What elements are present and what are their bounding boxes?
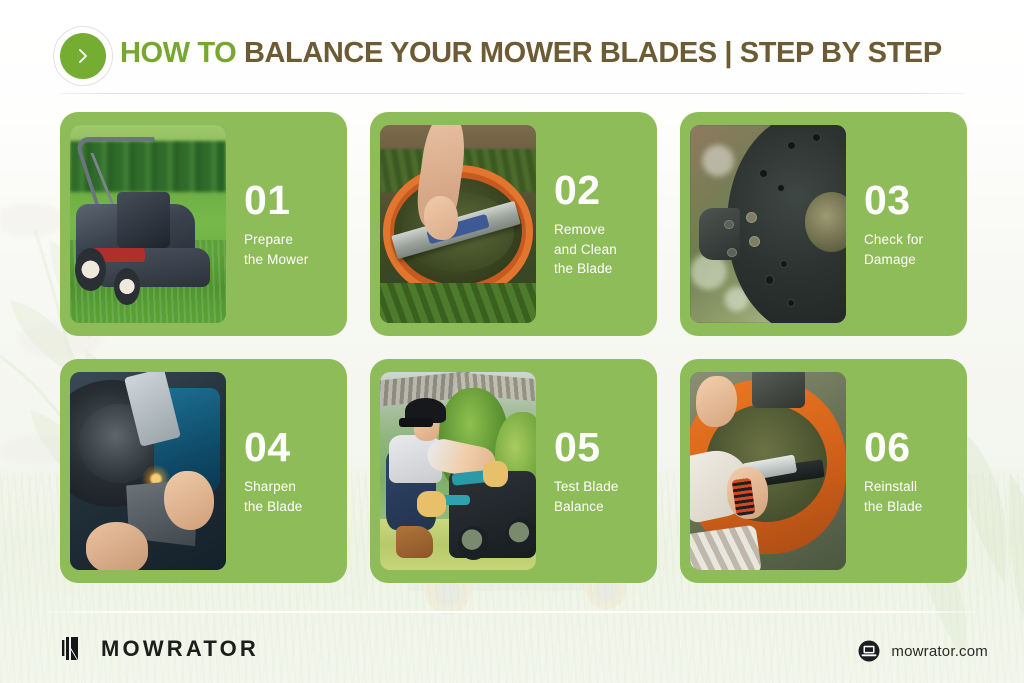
step-label-line-1: Sharpen (244, 479, 296, 494)
brand-logo[interactable]: MOWRATOR (62, 635, 259, 663)
laptop-icon (858, 640, 880, 662)
infographic-page: HOW TO BALANCE YOUR MOWER BLADES | STEP … (0, 0, 1024, 683)
mowrator-logo-mark (62, 635, 88, 663)
step-text-02: 02 Remove and Clean the Blade (536, 169, 657, 279)
step-label-line-1: Reinstall (864, 479, 917, 494)
step-label-line-1: Prepare (244, 232, 293, 247)
mower-blade-hub-closeup-photo (690, 125, 846, 323)
step-number: 06 (864, 426, 957, 468)
step-card-03[interactable]: 03 Check for Damage (680, 112, 967, 336)
badge-disc (60, 33, 106, 79)
step-text-01: 01 Prepare the Mower (226, 179, 347, 269)
header: HOW TO BALANCE YOUR MOWER BLADES | STEP … (0, 0, 1024, 100)
hand-cleaning-mower-blade-photo (380, 125, 536, 323)
step-label: Reinstall the Blade (864, 477, 957, 516)
header-divider (60, 93, 965, 94)
step-label: Remove and Clean the Blade (554, 220, 647, 279)
step-label: Test Blade Balance (554, 477, 647, 516)
step-label-line-2: the Blade (864, 499, 922, 514)
page-title-green-part: HOW TO (120, 37, 244, 69)
step-card-06[interactable]: 06 Reinstall the Blade (680, 359, 967, 583)
step-label-line-3: the Blade (554, 261, 612, 276)
step-number: 01 (244, 179, 337, 221)
step-text-03: 03 Check for Damage (846, 179, 967, 269)
step-label-line-1: Test Blade (554, 479, 619, 494)
step-number: 05 (554, 426, 647, 468)
lawn-mower-on-grass-photo (70, 125, 226, 323)
step-label-line-2: the Blade (244, 499, 302, 514)
step-text-05: 05 Test Blade Balance (536, 426, 657, 516)
chevron-right-icon (73, 46, 93, 66)
step-label-line-1: Check for (864, 232, 923, 247)
page-title: HOW TO BALANCE YOUR MOWER BLADES | STEP … (120, 36, 942, 70)
step-number: 03 (864, 179, 957, 221)
sharpening-blade-on-grinder-photo (70, 372, 226, 570)
step-card-04[interactable]: 04 Sharpen the Blade (60, 359, 347, 583)
step-card-05[interactable]: 05 Test Blade Balance (370, 359, 657, 583)
step-label-line-1: Remove (554, 222, 605, 237)
reinstalling-blade-under-deck-photo (690, 372, 846, 570)
step-text-04: 04 Sharpen the Blade (226, 426, 347, 516)
steps-grid: 01 Prepare the Mower 02 Remov (60, 112, 966, 583)
website-link[interactable]: mowrator.com (858, 640, 988, 662)
footer: MOWRATOR mowrator.com (0, 620, 1024, 683)
step-label-line-2: and Clean (554, 242, 617, 257)
step-label-line-2: the Mower (244, 252, 308, 267)
step-label-line-2: Damage (864, 252, 916, 267)
footer-divider (48, 611, 976, 613)
step-number: 02 (554, 169, 647, 211)
step-label: Sharpen the Blade (244, 477, 337, 516)
page-title-brown-part: BALANCE YOUR MOWER BLADES | STEP BY STEP (244, 37, 942, 69)
step-text-06: 06 Reinstall the Blade (846, 426, 967, 516)
chevron-right-badge[interactable] (54, 27, 112, 85)
step-label: Check for Damage (864, 230, 957, 269)
worker-testing-blade-balance-photo (380, 372, 536, 570)
step-number: 04 (244, 426, 337, 468)
website-url: mowrator.com (891, 643, 988, 660)
step-card-01[interactable]: 01 Prepare the Mower (60, 112, 347, 336)
step-card-02[interactable]: 02 Remove and Clean the Blade (370, 112, 657, 336)
brand-name: MOWRATOR (101, 636, 259, 662)
step-label-line-2: Balance (554, 499, 604, 514)
step-label: Prepare the Mower (244, 230, 337, 269)
